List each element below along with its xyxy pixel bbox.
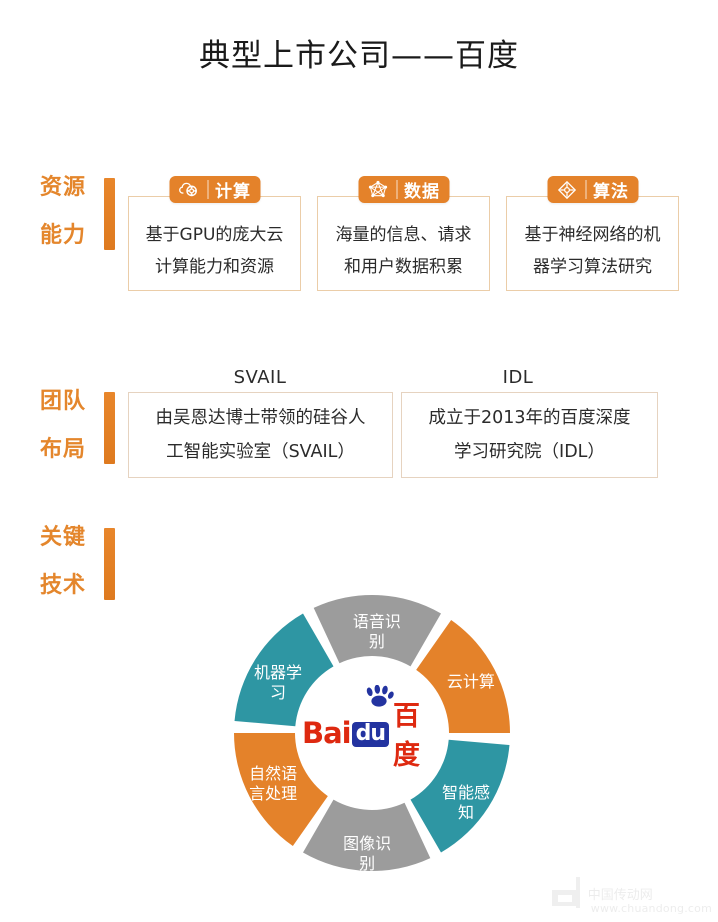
section-bar-resource	[104, 178, 115, 250]
watermark-cn-text: 中国传动网	[588, 889, 712, 903]
resource-card-data[interactable]: 数据 海量的信息、请求 和用户数据积累	[317, 176, 490, 291]
section-bar-team	[104, 392, 115, 464]
resource-card-algorithm-line2: 器学习算法研究	[515, 251, 670, 283]
resource-card-data-line1: 海量的信息、请求	[326, 219, 481, 251]
header-divider	[396, 180, 397, 199]
resource-card-algorithm-body: 基于神经网络的机 器学习算法研究	[506, 196, 679, 291]
watermark: 中国传动网 www.chuandong.com	[546, 874, 712, 914]
cloud-camera-icon	[178, 179, 200, 201]
resource-card-compute-header: 计算	[169, 176, 260, 203]
watermark-logo-icon	[546, 874, 588, 914]
team-caption-svail: SVAIL	[175, 367, 345, 388]
infographic-page: 典型上市公司——百度 资源 能力 计算 基于GPU的庞大云 计算能力和资源	[0, 0, 718, 922]
team-card-svail[interactable]: 由吴恩达博士带领的硅谷人 工智能实验室（SVAIL）	[128, 392, 393, 478]
baidu-paw-icon	[362, 685, 396, 707]
resource-card-compute-line2: 计算能力和资源	[137, 251, 292, 283]
team-card-idl-line1: 成立于2013年的百度深度	[428, 401, 630, 435]
resource-card-data-header: 数据	[358, 176, 449, 203]
baidu-logo-cn: 百度	[393, 694, 442, 772]
section-label-resource-line2: 能力	[40, 221, 98, 251]
resource-card-compute-title: 计算	[215, 177, 251, 202]
resource-card-compute-line1: 基于GPU的庞大云	[137, 219, 292, 251]
resource-card-algorithm[interactable]: 算法 基于神经网络的机 器学习算法研究	[506, 176, 679, 291]
team-card-idl-line2: 学习研究院（IDL）	[454, 435, 605, 469]
watermark-url: www.chuandong.com	[591, 903, 712, 914]
resource-card-data-line2: 和用户数据积累	[326, 251, 481, 283]
resource-card-algorithm-line1: 基于神经网络的机	[515, 219, 670, 251]
section-label-technology-line2: 技术	[40, 571, 98, 601]
baidu-logo: Bai du 百度	[302, 694, 442, 772]
team-card-idl[interactable]: 成立于2013年的百度深度 学习研究院（IDL）	[401, 392, 658, 478]
section-label-resource-line1: 资源	[40, 173, 98, 203]
team-caption-idl: IDL	[433, 367, 603, 388]
donut-segment-4[interactable]	[303, 800, 430, 871]
resource-card-algorithm-title: 算法	[593, 177, 629, 202]
page-title: 典型上市公司——百度	[0, 30, 718, 75]
resource-card-data-body: 海量的信息、请求 和用户数据积累	[317, 196, 490, 291]
header-divider	[207, 180, 208, 199]
resource-card-compute[interactable]: 计算 基于GPU的庞大云 计算能力和资源	[128, 176, 301, 291]
section-label-technology: 关键 技术	[40, 518, 115, 606]
resource-card-compute-body: 基于GPU的庞大云 计算能力和资源	[128, 196, 301, 291]
resource-card-algorithm-header: 算法	[547, 176, 638, 203]
team-card-svail-line2: 工智能实验室（SVAIL）	[166, 435, 355, 469]
baidu-logo-du: du	[352, 722, 389, 747]
section-label-team-line2: 布局	[40, 435, 98, 465]
section-label-team-line1: 团队	[40, 387, 98, 417]
technology-donut-chart: 机器学习 语音识别 云计算 智能感知 图像识别 自然语言处理 Bai du 百度	[232, 583, 512, 883]
section-label-team: 团队 布局	[40, 382, 115, 470]
donut-segment-1[interactable]	[314, 595, 441, 666]
network-nodes-icon	[367, 179, 389, 201]
team-card-svail-line1: 由吴恩达博士带领的硅谷人	[156, 401, 366, 435]
diamond-target-icon	[556, 179, 578, 201]
section-bar-technology	[104, 528, 115, 600]
section-label-resource: 资源 能力	[40, 168, 115, 256]
resource-card-data-title: 数据	[404, 177, 440, 202]
baidu-logo-latin: Bai	[302, 716, 351, 750]
section-label-technology-line1: 关键	[40, 523, 98, 553]
header-divider	[585, 180, 586, 199]
